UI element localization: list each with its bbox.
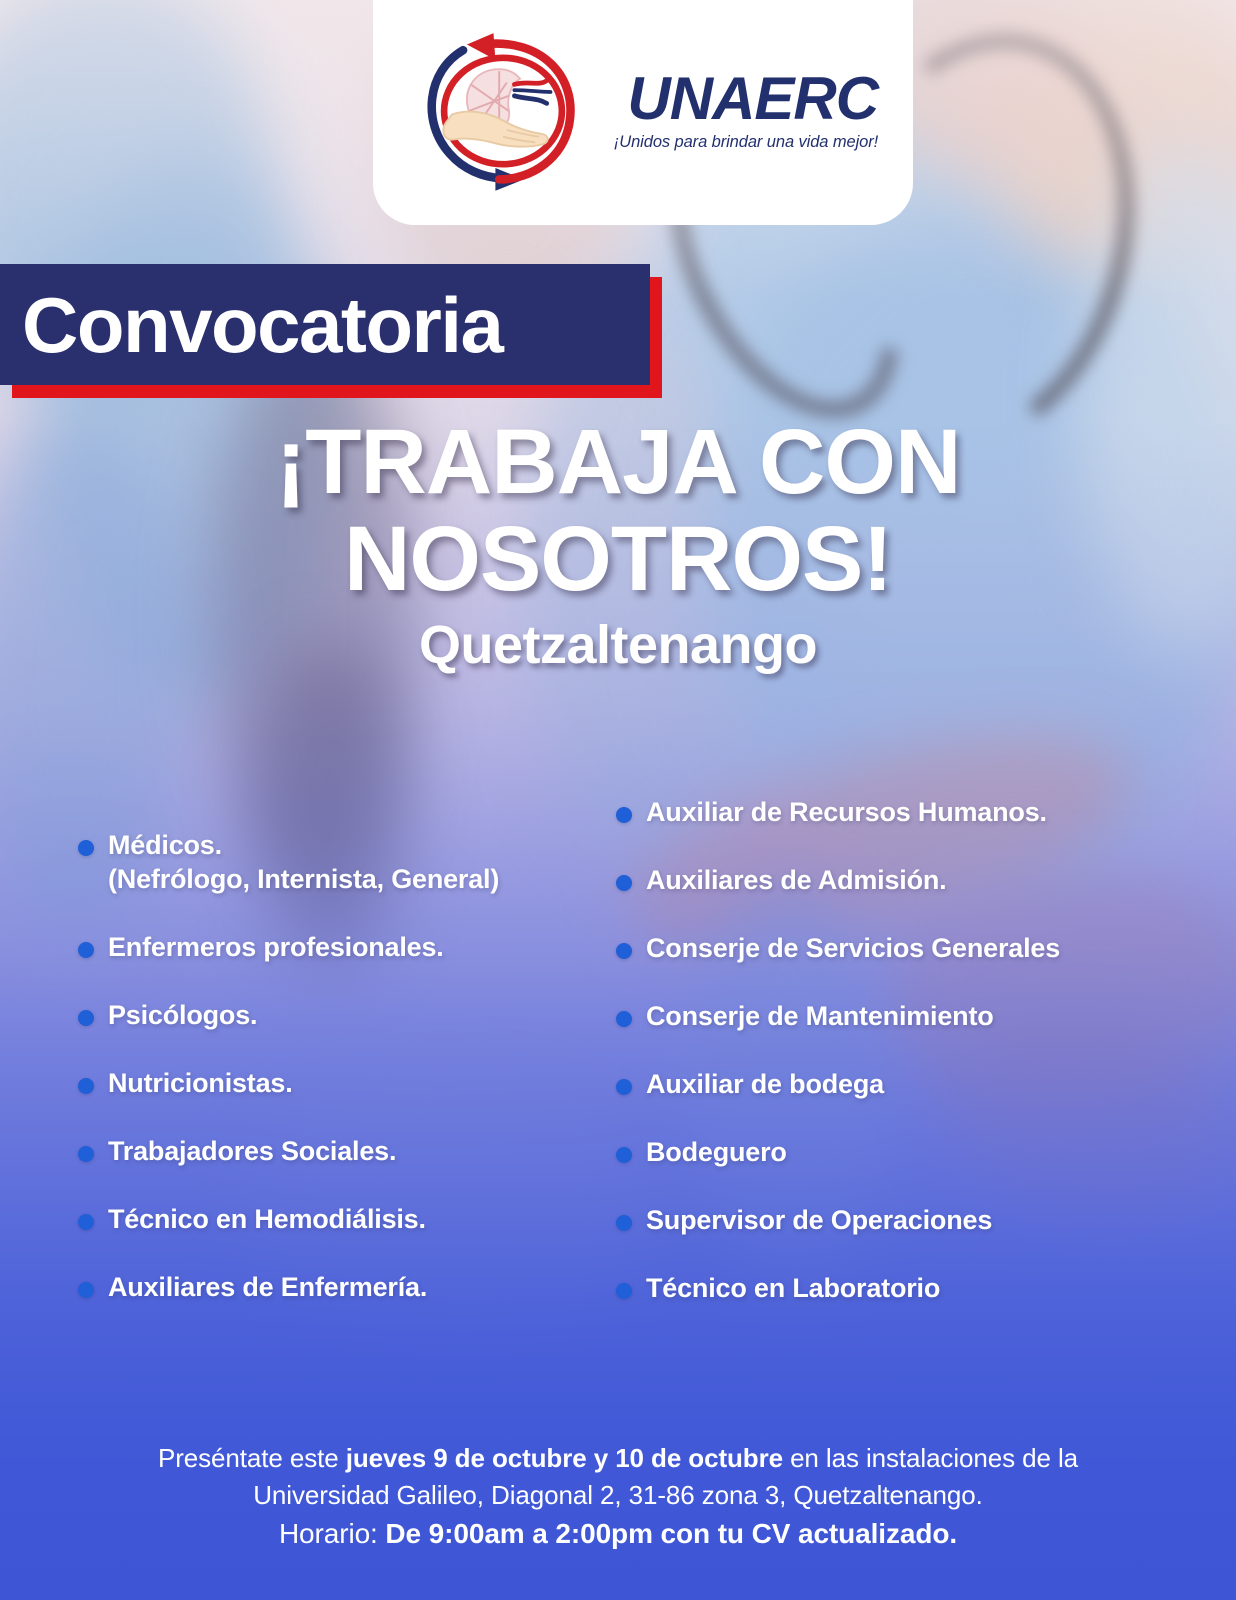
footer-line1-pre: Preséntate este (158, 1443, 346, 1473)
job-list-item: Bodeguero (616, 1135, 1236, 1169)
job-list-item: Médicos.(Nefrólogo, Internista, General) (78, 828, 600, 896)
footer-details: Preséntate este jueves 9 de octubre y 10… (0, 1440, 1236, 1554)
bullet-dot-icon (616, 1215, 632, 1231)
headline-line-1: ¡TRABAJA CON (0, 418, 1236, 507)
job-list-item: Conserje de Servicios Generales (616, 931, 1236, 965)
bullet-dot-icon (78, 840, 94, 856)
footer-line1-post: en las instalaciones de la (783, 1443, 1078, 1473)
bullet-dot-icon (616, 1011, 632, 1027)
job-list-item: Supervisor de Operaciones (616, 1203, 1236, 1237)
job-title: Conserje de Mantenimiento (646, 999, 994, 1033)
job-title: Bodeguero (646, 1135, 787, 1169)
job-title: Trabajadores Sociales. (108, 1134, 396, 1168)
logo-wordmark-block: UNAERC ¡Unidos para brindar una vida mej… (614, 69, 878, 152)
bullet-dot-icon (616, 943, 632, 959)
banner-navy-bar: Convocatoria (0, 264, 650, 385)
logo-wordmark: UNAERC (627, 69, 878, 129)
footer-line-1: Preséntate este jueves 9 de octubre y 10… (0, 1440, 1236, 1477)
bullet-dot-icon (78, 1282, 94, 1298)
bullet-dot-icon (78, 1214, 94, 1230)
job-title: Auxiliar de Recursos Humanos. (646, 795, 1047, 829)
job-list-item: Auxiliar de bodega (616, 1067, 1236, 1101)
job-title: Auxiliares de Enfermería. (108, 1270, 427, 1304)
headline-subtitle: Quetzaltenango (0, 614, 1236, 676)
logo-card: UNAERC ¡Unidos para brindar una vida mej… (373, 0, 913, 225)
bullet-dot-icon (616, 1079, 632, 1095)
footer-schedule-label: Horario: (279, 1518, 385, 1549)
footer-line1-dates: jueves 9 de octubre y 10 de octubre (346, 1443, 783, 1473)
bullet-dot-icon (78, 1010, 94, 1026)
headline-block: ¡TRABAJA CON NOSOTROS! Quetzaltenango (0, 418, 1236, 676)
job-title: Técnico en Hemodiálisis. (108, 1202, 426, 1236)
bullet-dot-icon (78, 942, 94, 958)
bullet-dot-icon (616, 1147, 632, 1163)
headline-line-2: NOSOTROS! (0, 515, 1236, 604)
job-list-item: Auxiliares de Admisión. (616, 863, 1236, 897)
footer-line-3: Horario: De 9:00am a 2:00pm con tu CV ac… (0, 1514, 1236, 1554)
job-list-item: Enfermeros profesionales. (78, 930, 600, 964)
job-posting-flyer: UNAERC ¡Unidos para brindar una vida mej… (0, 0, 1236, 1600)
bullet-dot-icon (616, 807, 632, 823)
convocatoria-banner: Convocatoria (0, 264, 650, 385)
bullet-dot-icon (616, 875, 632, 891)
footer-schedule-value: De 9:00am a 2:00pm con tu CV actualizado… (385, 1518, 957, 1549)
footer-line-2-address: Universidad Galileo, Diagonal 2, 31-86 z… (0, 1477, 1236, 1514)
job-list-item: Técnico en Laboratorio (616, 1271, 1236, 1305)
banner-label: Convocatoria (0, 286, 502, 364)
job-list-item: Técnico en Hemodiálisis. (78, 1202, 600, 1236)
job-title: Auxiliar de bodega (646, 1067, 884, 1101)
job-list-item: Conserje de Mantenimiento (616, 999, 1236, 1033)
bullet-dot-icon (616, 1283, 632, 1299)
job-columns: Médicos.(Nefrólogo, Internista, General)… (0, 795, 1236, 1339)
job-column-right: Auxiliar de Recursos Humanos.Auxiliares … (600, 795, 1236, 1339)
job-title: Auxiliares de Admisión. (646, 863, 946, 897)
kidney-hand-arrows-logo (408, 16, 598, 206)
bullet-dot-icon (78, 1078, 94, 1094)
job-title: Psicólogos. (108, 998, 257, 1032)
job-column-left: Médicos.(Nefrólogo, Internista, General)… (0, 795, 600, 1338)
job-list-item: Auxiliares de Enfermería. (78, 1270, 600, 1304)
job-title: Nutricionistas. (108, 1066, 293, 1100)
job-title: Enfermeros profesionales. (108, 930, 444, 964)
job-list-item: Psicólogos. (78, 998, 600, 1032)
bullet-dot-icon (78, 1146, 94, 1162)
job-title: Médicos.(Nefrólogo, Internista, General) (108, 828, 499, 896)
job-list-item: Auxiliar de Recursos Humanos. (616, 795, 1236, 829)
job-title: Técnico en Laboratorio (646, 1271, 940, 1305)
job-list-item: Nutricionistas. (78, 1066, 600, 1100)
job-title: Supervisor de Operaciones (646, 1203, 992, 1237)
job-list-item: Trabajadores Sociales. (78, 1134, 600, 1168)
logo-tagline: ¡Unidos para brindar una vida mejor! (614, 133, 878, 152)
job-specialties: (Nefrólogo, Internista, General) (108, 862, 499, 896)
job-title: Conserje de Servicios Generales (646, 931, 1060, 965)
